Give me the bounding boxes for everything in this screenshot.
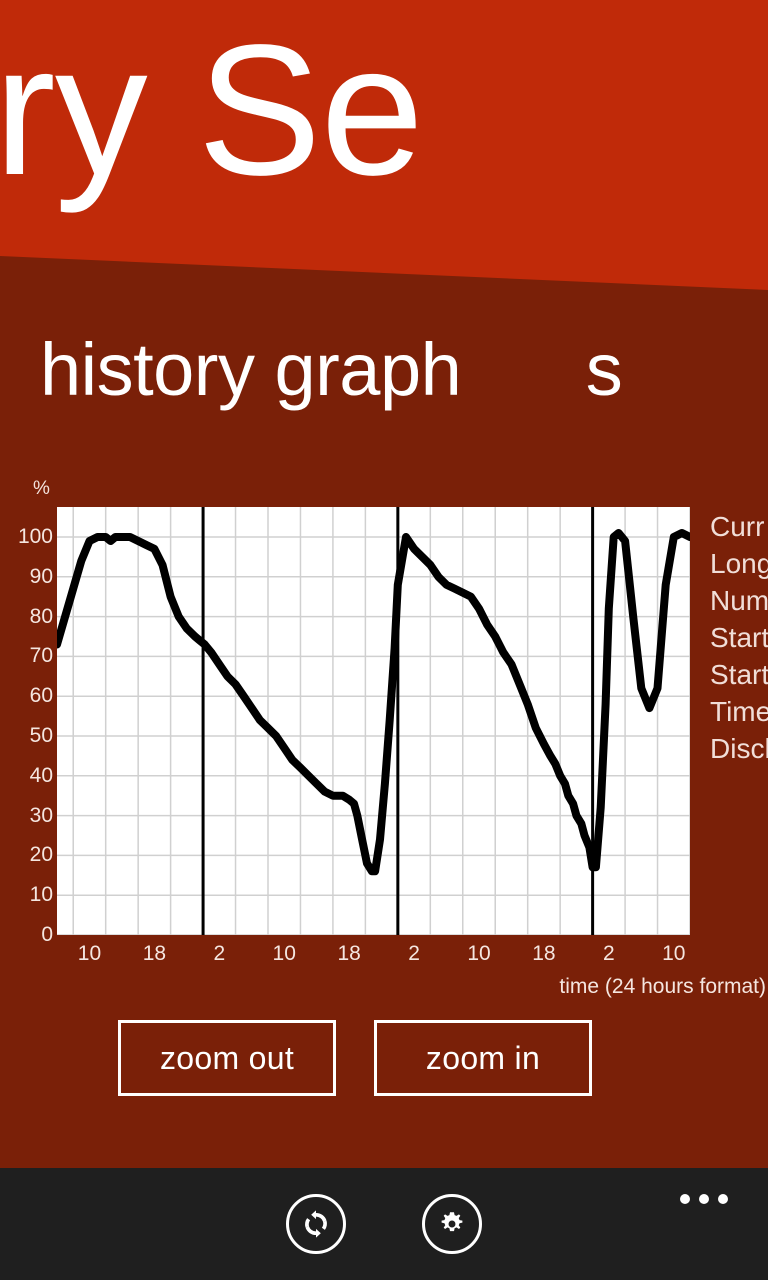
- app-title: ttery Se: [0, 18, 423, 204]
- y-axis-tick-label: 70: [3, 644, 53, 668]
- y-axis-tick-label: 50: [3, 724, 53, 748]
- statistics-label: Disch: [710, 730, 768, 767]
- ellipsis-dot: [680, 1194, 690, 1204]
- y-axis-tick-label: 10: [3, 883, 53, 907]
- battery-level-line: [57, 533, 690, 871]
- y-axis-tick-label: 80: [3, 605, 53, 629]
- y-axis-unit-label: %: [33, 478, 50, 500]
- gear-icon[interactable]: [422, 1194, 482, 1254]
- chart-plot-area[interactable]: [57, 507, 690, 935]
- x-axis-tick-label: 10: [78, 942, 101, 966]
- refresh-glyph: [299, 1207, 333, 1241]
- y-axis-tick-label: 0: [3, 923, 53, 947]
- gear-glyph: [436, 1208, 468, 1240]
- x-axis-tick-label: 10: [273, 942, 296, 966]
- statistics-teaser-column[interactable]: CurrLongNumStartStartTimeDisch: [710, 508, 768, 767]
- history-chart: % 0102030405060708090100 101821018210182…: [0, 480, 768, 1000]
- zoom-button-row: zoom out zoom in: [0, 1020, 768, 1106]
- statistics-label: Start: [710, 619, 768, 656]
- statistics-label: Num: [710, 582, 768, 619]
- statistics-label: Curr: [710, 508, 768, 545]
- x-axis-tick-label: 18: [337, 942, 360, 966]
- y-axis-tick-label: 20: [3, 843, 53, 867]
- ellipsis-icon[interactable]: [680, 1188, 740, 1214]
- x-axis-tick-label: 10: [467, 942, 490, 966]
- ellipsis-dot: [699, 1194, 709, 1204]
- app-bar: [0, 1168, 768, 1280]
- y-axis-tick-label: 90: [3, 565, 53, 589]
- statistics-label: Start: [710, 656, 768, 693]
- zoom-out-button[interactable]: zoom out: [118, 1020, 336, 1096]
- phone-screen: ttery Se history graph s % 0102030405060…: [0, 0, 768, 1280]
- chart-svg: [57, 507, 690, 935]
- zoom-in-button[interactable]: zoom in: [374, 1020, 592, 1096]
- x-axis-tick-label: 18: [143, 942, 166, 966]
- x-axis-tick-label: 10: [662, 942, 685, 966]
- x-axis-tick-label: 18: [532, 942, 555, 966]
- x-axis-label: time (24 hours format): [559, 975, 766, 999]
- pivot-statistics[interactable]: s: [586, 320, 623, 420]
- x-axis-tick-label: 2: [213, 942, 225, 966]
- x-axis-tick-label: 2: [603, 942, 615, 966]
- statistics-label: Long: [710, 545, 768, 582]
- y-axis-tick-label: 60: [3, 684, 53, 708]
- pivot-history-graph[interactable]: history graph: [40, 320, 461, 420]
- statistics-label: Time: [710, 693, 768, 730]
- x-axis-ticks: 10182101821018210: [57, 942, 690, 974]
- ellipsis-dot: [718, 1194, 728, 1204]
- app-header-band: ttery Se: [0, 0, 768, 300]
- y-axis-tick-label: 100: [3, 525, 53, 549]
- y-axis-tick-label: 30: [3, 804, 53, 828]
- pivot-header-row[interactable]: history graph s: [0, 320, 768, 430]
- refresh-icon[interactable]: [286, 1194, 346, 1254]
- y-axis-tick-label: 40: [3, 764, 53, 788]
- y-axis-ticks: 0102030405060708090100: [0, 507, 53, 935]
- x-axis-tick-label: 2: [408, 942, 420, 966]
